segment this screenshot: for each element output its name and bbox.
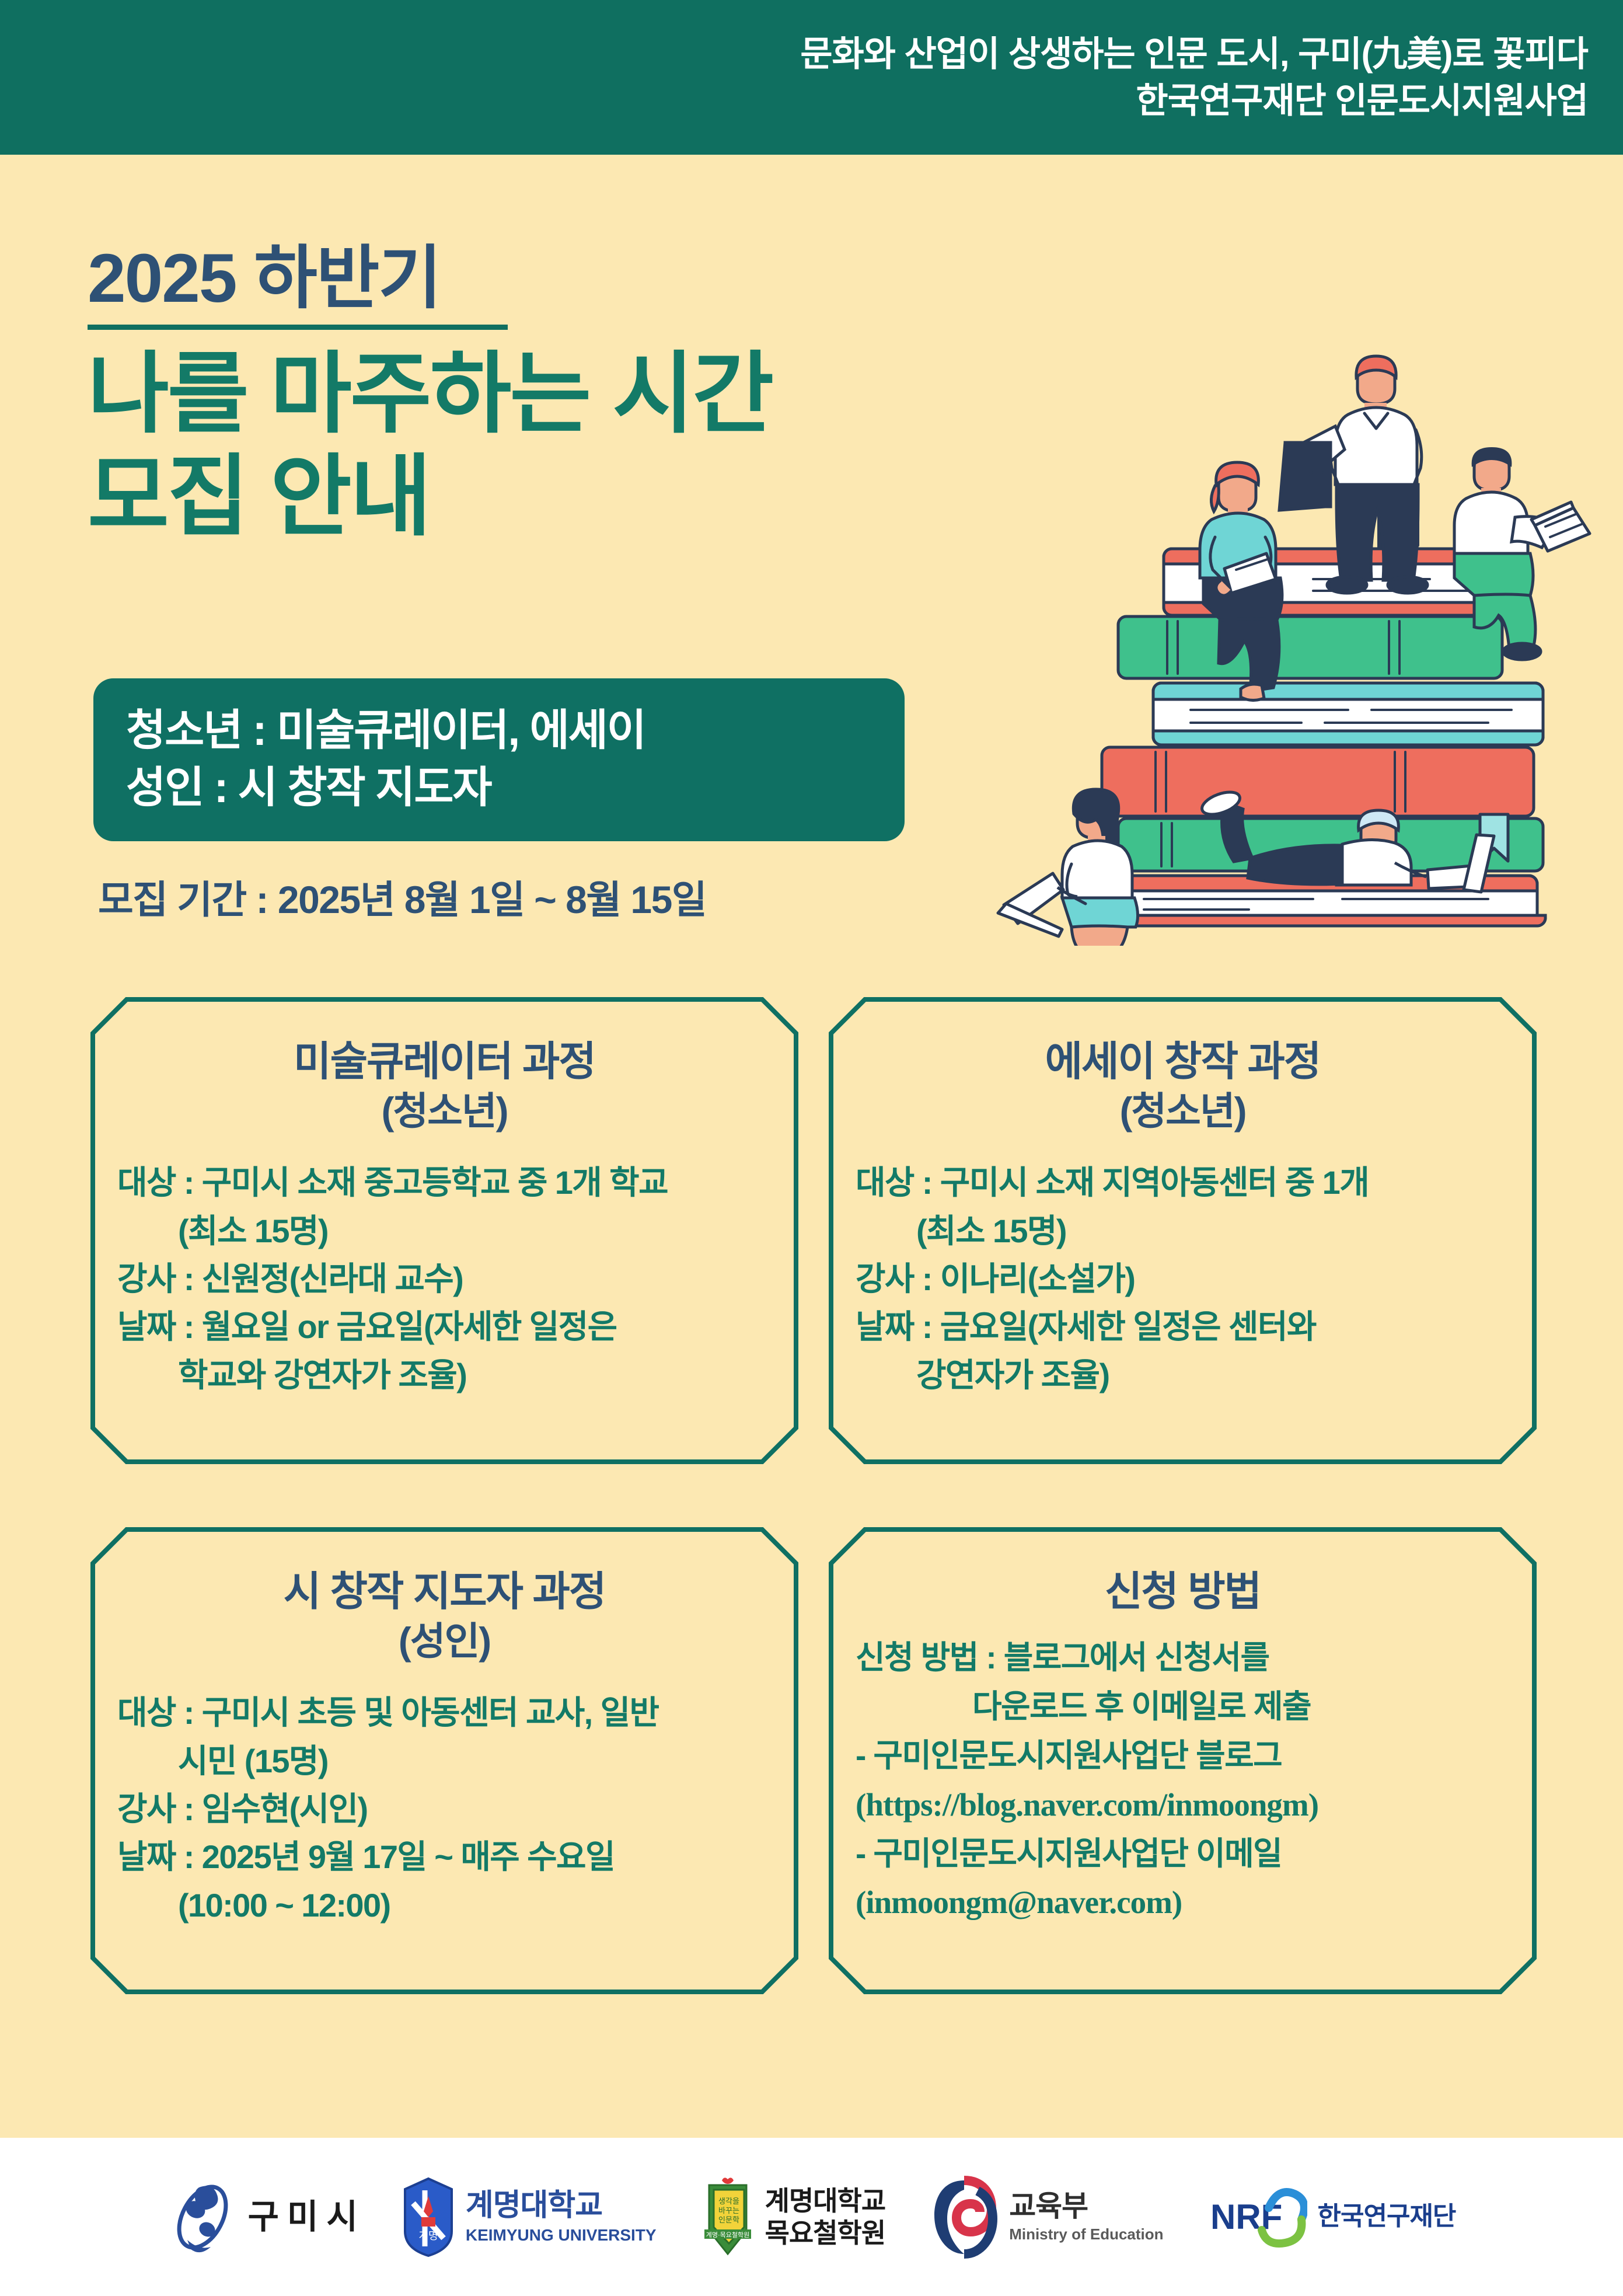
- card-line-schedule-time: (10:00 ~ 12:00): [117, 1883, 772, 1928]
- apply-blog-label: - 구미인문도시지원사업단 블로그: [856, 1734, 1510, 1778]
- card-body: 대상 : 구미시 소재 지역아동센터 중 1개 (최소 15명) 강사 : 이나…: [856, 1160, 1510, 1398]
- book-cyan: [1153, 683, 1543, 745]
- apply-method-line1: 신청 방법 : 블로그에서 신청서를: [856, 1636, 1510, 1680]
- svg-text:생각을: 생각을: [718, 2197, 739, 2206]
- footer-logo-bar: 구 미 시 계명 계명대학교 KEIMYUNG UNIVERSITY 생각을 바…: [0, 2138, 1623, 2296]
- svg-text:바꾸는: 바꾸는: [718, 2206, 739, 2215]
- header-bar: 문화와 산업이 상생하는 인문 도시, 구미(九美)로 꽃피다 한국연구재단 인…: [0, 0, 1623, 155]
- card-title: 에세이 창작 과정: [1045, 1037, 1321, 1086]
- card-title: 미술큐레이터 과정: [294, 1037, 595, 1086]
- recruitment-period: 모집 기간 : 2025년 8월 1일 ~ 8월 15일: [98, 869, 706, 925]
- card-title: 시 창작 지도자 과정: [284, 1567, 606, 1616]
- course-card-art-curator: 미술큐레이터 과정 (청소년) 대상 : 구미시 소재 중고등학교 중 1개 학…: [90, 997, 798, 1464]
- sitting-woman-with-laptop: [998, 789, 1140, 946]
- keimyung-shield-emblem-icon: 계명: [402, 2176, 455, 2258]
- apply-method-line2: 다운로드 후 이메일로 제출: [856, 1685, 1510, 1729]
- poster-title-line1: 나를 마주하는 시간: [88, 343, 998, 445]
- book-green-upper: [1118, 616, 1502, 678]
- logo-gumi-city: 구 미 시: [167, 2179, 357, 2255]
- card-body: 대상 : 구미시 소재 중고등학교 중 1개 학교 (최소 15명) 강사 : …: [117, 1160, 772, 1398]
- logo-keimyung-mokyo-philosophy: 생각을 바꾸는 인문학 계명·목요철학원 계명대학교 목요철학원: [701, 2176, 886, 2259]
- card-line-schedule-cont: 강연자가 조율): [856, 1353, 1510, 1398]
- card-line-schedule: 날짜 : 월요일 or 금요일(자세한 일정은: [117, 1304, 772, 1350]
- card-title: 신청 방법: [1105, 1567, 1261, 1616]
- logo-keimyung-en-label: KEIMYUNG UNIVERSITY: [466, 2227, 657, 2244]
- apply-blog-url[interactable]: (https://blog.naver.com/inmoongm): [856, 1783, 1510, 1827]
- card-line-schedule: 날짜 : 금요일(자세한 일정은 센터와: [856, 1304, 1510, 1350]
- audience-badge-adult: 성인 : 시 창작 지도자: [126, 759, 872, 816]
- card-line-target: 대상 : 구미시 초등 및 아동센터 교사, 일반: [117, 1690, 772, 1736]
- svg-text:계명·목요철학원: 계명·목요철학원: [706, 2231, 749, 2239]
- title-block: 2025 하반기 나를 마주하는 시간 모집 안내: [88, 244, 998, 549]
- svg-text:계명: 계명: [418, 2230, 438, 2242]
- course-card-grid: 미술큐레이터 과정 (청소년) 대상 : 구미시 소재 중고등학교 중 1개 학…: [90, 997, 1537, 2007]
- card-line-target: 대상 : 구미시 소재 지역아동센터 중 1개: [856, 1160, 1510, 1206]
- card-subtitle: (청소년): [1119, 1088, 1245, 1134]
- logo-keimyung-university: 계명 계명대학교 KEIMYUNG UNIVERSITY: [402, 2176, 657, 2258]
- people-reading-on-book-stack-illustration: .ln{stroke:#2B3A55;stroke-width:5;fill:n…: [986, 222, 1605, 946]
- taegeuk-government-emblem-icon: [930, 2176, 999, 2259]
- card-body: 신청 방법 : 블로그에서 신청서를 다운로드 후 이메일로 제출 - 구미인문…: [856, 1636, 1510, 1925]
- header-tagline-line2: 한국연구재단 인문도시지원사업: [1136, 78, 1588, 124]
- apply-email-label: - 구미인문도시지원사업단 이메일: [856, 1832, 1510, 1876]
- card-body: 대상 : 구미시 초등 및 아동센터 교사, 일반 시민 (15명) 강사 : …: [117, 1690, 772, 1928]
- logo-nrf-ko-label: 한국연구재단: [1318, 2203, 1456, 2231]
- audience-badge-youth: 청소년 : 미술큐레이터, 에세이: [126, 702, 872, 759]
- how-to-apply-card: 신청 방법 신청 방법 : 블로그에서 신청서를 다운로드 후 이메일로 제출 …: [829, 1527, 1537, 1994]
- card-line-instructor: 강사 : 신원정(신라대 교수): [117, 1256, 772, 1302]
- poster-title-line2: 모집 안내: [88, 445, 998, 548]
- logo-keimyung-ko-label: 계명대학교: [466, 2190, 657, 2222]
- logo-moe-en-label: Ministry of Education: [1009, 2227, 1163, 2243]
- audience-badge: 청소년 : 미술큐레이터, 에세이 성인 : 시 창작 지도자: [93, 678, 905, 841]
- header-tagline-line1: 문화와 산업이 상생하는 인문 도시, 구미(九美)로 꽃피다: [800, 31, 1588, 77]
- card-line-instructor: 강사 : 임수현(시인): [117, 1786, 772, 1832]
- card-line-instructor: 강사 : 이나리(소설가): [856, 1256, 1510, 1302]
- nrf-swoosh-logo-icon: NRF: [1208, 2184, 1307, 2250]
- logo-nrf-korea: NRF 한국연구재단: [1208, 2184, 1456, 2250]
- course-card-essay-writing: 에세이 창작 과정 (청소년) 대상 : 구미시 소재 지역아동센터 중 1개 …: [829, 997, 1537, 1464]
- mokyo-philosophy-emblem-icon: 생각을 바꾸는 인문학 계명·목요철학원: [701, 2176, 755, 2259]
- apply-email-address[interactable]: (inmoongm@naver.com): [856, 1880, 1510, 1925]
- card-line-target-count: 시민 (15명): [117, 1738, 772, 1784]
- sitting-man-reading-book: [1454, 447, 1590, 660]
- card-line-schedule-cont: 학교와 강연자가 조율): [117, 1353, 772, 1398]
- gumi-city-emblem-icon: [167, 2179, 238, 2255]
- year-underline-rule: [88, 325, 508, 330]
- year-label: 2025 하반기: [88, 244, 441, 321]
- card-line-schedule: 날짜 : 2025년 9월 17일 ~ 매주 수요일: [117, 1834, 772, 1880]
- card-line-target-count: (최소 15명): [856, 1208, 1510, 1254]
- card-subtitle: (청소년): [381, 1088, 507, 1134]
- logo-ministry-of-education: 교육부 Ministry of Education: [930, 2176, 1163, 2259]
- card-subtitle: (성인): [399, 1618, 490, 1664]
- card-line-target: 대상 : 구미시 소재 중고등학교 중 1개 학교: [117, 1160, 772, 1206]
- card-line-target-count: (최소 15명): [117, 1208, 772, 1254]
- svg-text:인문학: 인문학: [718, 2215, 739, 2224]
- logo-mokyo-line1-label: 계명대학교: [765, 2187, 886, 2215]
- course-card-poetry-instructor: 시 창작 지도자 과정 (성인) 대상 : 구미시 초등 및 아동센터 교사, …: [90, 1527, 798, 1994]
- logo-moe-ko-label: 교육부: [1009, 2191, 1163, 2222]
- logo-mokyo-line2-label: 목요철학원: [765, 2219, 886, 2248]
- logo-gumi-city-label: 구 미 시: [248, 2199, 357, 2235]
